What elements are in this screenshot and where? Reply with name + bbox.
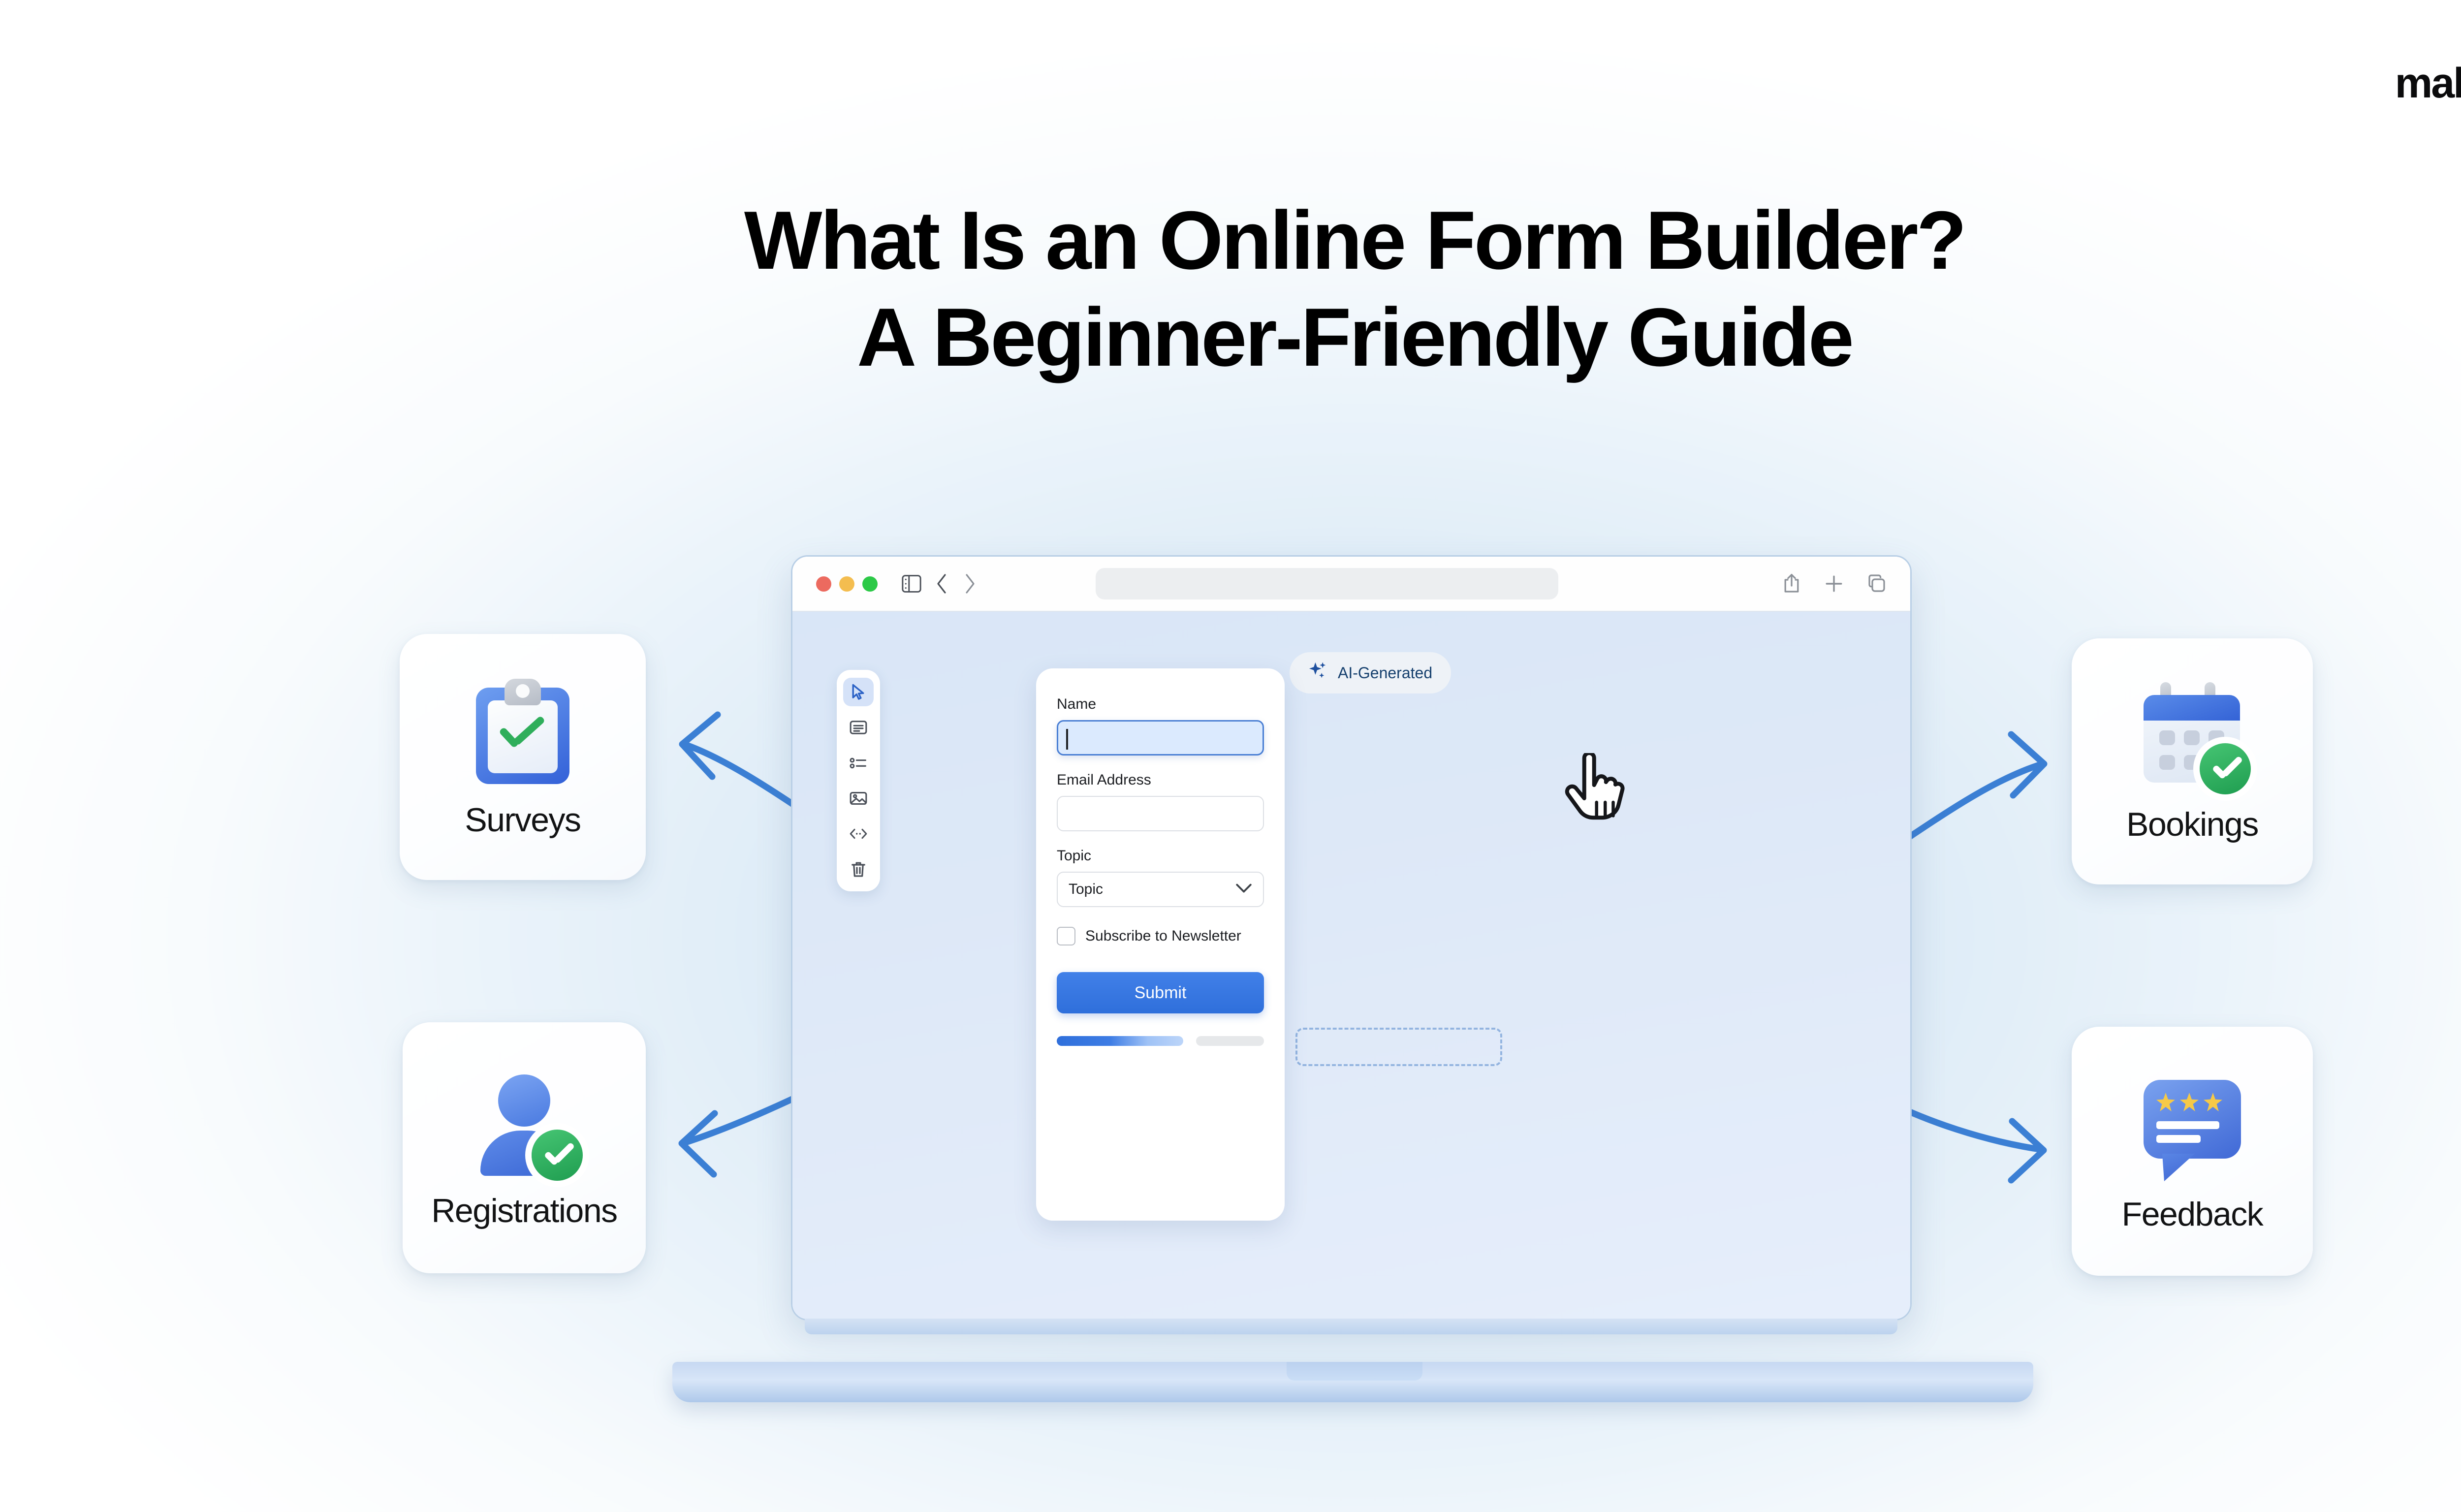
feature-card-bookings[interactable]: Bookings [2072,638,2313,884]
feature-card-label: Feedback [2122,1195,2263,1233]
ai-generated-badge: AI-Generated [1290,652,1451,693]
feature-card-label: Registrations [431,1192,617,1230]
sparkles-icon [1308,661,1328,685]
topic-field-label: Topic [1057,848,1264,864]
topic-select-value: Topic [1069,881,1103,898]
feature-card-registrations[interactable]: Registrations [403,1022,646,1273]
minimize-button[interactable] [839,576,854,592]
page-title: What Is an Online Form Builder? A Beginn… [0,192,2461,385]
form-progress-indicator [1057,1036,1264,1046]
window-controls[interactable] [816,576,878,592]
share-icon[interactable] [1782,573,1801,595]
name-input[interactable] [1057,720,1264,756]
drag-drop-placeholder[interactable] [1295,1028,1502,1066]
feature-card-label: Bookings [2126,805,2258,844]
newsletter-checkbox-label: Subscribe to Newsletter [1085,928,1241,945]
editor-toolbar [837,670,880,891]
sidebar-toggle-icon[interactable] [901,574,922,593]
new-tab-plus-icon[interactable] [1825,574,1843,593]
logo-wordmark: makeforms [2395,60,2461,107]
topic-select[interactable]: Topic [1057,872,1264,907]
trash-tool-button[interactable] [843,855,874,883]
name-field-label: Name [1057,696,1264,713]
text-block-tool-button[interactable] [843,713,874,742]
page-title-line-2: A Beginner-Friendly Guide [0,289,2461,386]
feature-card-surveys[interactable]: Surveys [400,634,646,880]
green-check-badge [532,1130,583,1181]
email-input[interactable] [1057,796,1264,831]
feature-card-label: Surveys [465,801,580,839]
laptop-base-notch [1287,1362,1422,1381]
clipboard-check-icon [466,675,579,788]
back-button[interactable] [935,573,949,595]
close-button[interactable] [816,576,831,592]
forward-button[interactable] [962,573,977,595]
embed-code-tool-button[interactable] [843,819,874,848]
feature-card-feedback[interactable]: Feedback [2072,1027,2313,1276]
page-title-line-1: What Is an Online Form Builder? [744,194,1965,286]
browser-viewport: AI-Generated Name Email Address Topic To… [792,612,1910,1319]
list-tool-button[interactable] [843,749,874,777]
submit-button-label: Submit [1135,983,1187,1003]
progress-filled-segment [1057,1036,1183,1046]
address-bar[interactable] [1096,568,1558,599]
submit-button[interactable]: Submit [1057,972,1264,1013]
maximize-button[interactable] [862,576,878,592]
browser-toolbar [792,557,1910,612]
progress-empty-segment [1196,1036,1264,1046]
laptop-screen: AI-Generated Name Email Address Topic To… [791,555,1912,1321]
ai-generated-label: AI-Generated [1338,664,1432,682]
select-tool-button[interactable] [843,678,874,706]
green-check-badge [2200,743,2251,794]
tabs-overview-icon[interactable] [1867,574,1887,594]
email-field-label: Email Address [1057,772,1264,788]
image-tool-button[interactable] [843,784,874,813]
person-check-icon [468,1066,581,1179]
chevron-down-icon [1235,881,1252,898]
pointing-hand-cursor [1563,753,1627,832]
laptop-hinge [805,1319,1897,1334]
form-preview-card: Name Email Address Topic Topic Subscribe… [1036,668,1285,1221]
text-caret [1066,729,1068,750]
brand-logo: makeforms.io [2395,59,2461,108]
newsletter-checkbox-row[interactable]: Subscribe to Newsletter [1057,927,1264,945]
chat-stars-icon [2136,1069,2249,1182]
calendar-check-icon [2136,679,2249,792]
newsletter-checkbox[interactable] [1057,927,1075,945]
